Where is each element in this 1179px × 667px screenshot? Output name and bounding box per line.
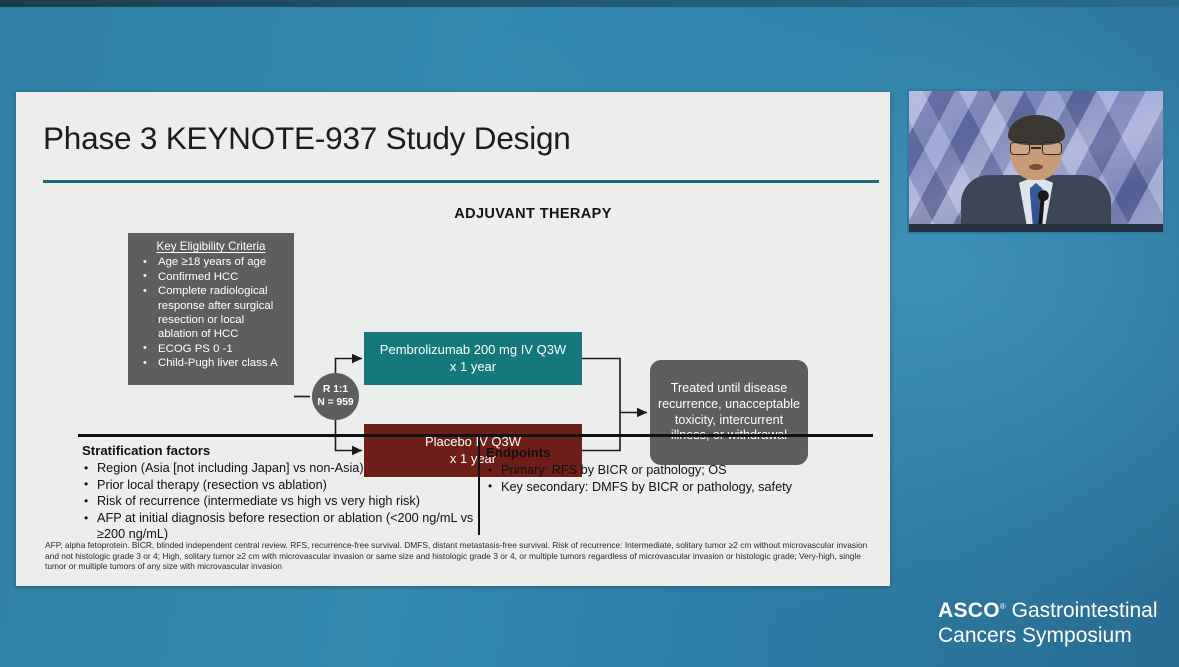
presentation-viewer: Phase 3 KEYNOTE-937 Study Design ADJUVAN… <box>0 0 1179 667</box>
speaker-podium <box>909 224 1163 232</box>
list-item: Age ≥18 years of age <box>136 255 286 269</box>
stratification-section: Stratification factors Region (Asia [not… <box>82 443 474 543</box>
speaker-hair <box>1008 115 1065 145</box>
slide: Phase 3 KEYNOTE-937 Study Design ADJUVAN… <box>16 92 890 586</box>
list-item: Prior local therapy (resection vs ablati… <box>82 477 474 493</box>
speaker-video-panel[interactable] <box>907 89 1165 234</box>
list-item: Key secondary: DMFS by BICR or pathology… <box>486 479 876 495</box>
pembrolizumab-arm-line2: x 1 year <box>380 359 566 376</box>
slide-title: Phase 3 KEYNOTE-937 Study Design <box>43 120 571 157</box>
list-item: Child-Pugh liver class A <box>136 356 286 370</box>
list-item: Region (Asia [not including Japan] vs no… <box>82 460 474 476</box>
asco-logo-line1-rest: Gastrointestinal <box>1006 599 1158 622</box>
list-item: Confirmed HCC <box>136 270 286 284</box>
eligibility-heading: Key Eligibility Criteria <box>136 240 286 253</box>
adjuvant-therapy-label: ADJUVANT THERAPY <box>373 206 693 222</box>
stratification-list: Region (Asia [not including Japan] vs no… <box>82 460 474 543</box>
endpoints-heading: Endpoints <box>486 445 876 460</box>
pembrolizumab-arm-box: Pembrolizumab 200 mg IV Q3W x 1 year <box>364 332 582 385</box>
eligibility-list: Age ≥18 years of age Confirmed HCC Compl… <box>136 255 286 371</box>
list-item: Primary: RFS by BICR or pathology; OS <box>486 462 876 478</box>
pembrolizumab-arm-line1: Pembrolizumab 200 mg IV Q3W <box>380 342 566 359</box>
list-item: AFP at initial diagnosis before resectio… <box>82 510 474 542</box>
list-item: Complete radiological response after sur… <box>136 284 286 341</box>
slide-footnote: AFP, alpha fetoprotein. BICR, blinded in… <box>45 540 875 572</box>
list-item: ECOG PS 0 -1 <box>136 342 286 356</box>
panel-divider-vertical <box>478 437 480 535</box>
speaker-mouth <box>1029 164 1043 170</box>
endpoints-section: Endpoints Primary: RFS by BICR or pathol… <box>486 445 876 495</box>
asco-wordmark: ASCO <box>938 599 1000 622</box>
panel-divider-horizontal <box>78 434 873 437</box>
eligibility-criteria-box: Key Eligibility Criteria Age ≥18 years o… <box>128 233 294 385</box>
title-underline <box>43 180 879 183</box>
endpoints-list: Primary: RFS by BICR or pathology; OS Ke… <box>486 462 876 495</box>
list-item: Risk of recurrence (intermediate vs high… <box>82 493 474 509</box>
asco-logo-line2: Cancers Symposium <box>938 623 1158 648</box>
randomization-node: R 1:1 N = 959 <box>312 373 359 420</box>
randomization-n: N = 959 <box>317 397 353 409</box>
stratification-heading: Stratification factors <box>82 443 474 458</box>
asco-logo: ASCO® Gastrointestinal Cancers Symposium <box>938 594 1158 648</box>
asco-logo-line1: ASCO® Gastrointestinal <box>938 594 1158 623</box>
speaker-glasses <box>1010 142 1062 155</box>
randomization-ratio: R 1:1 <box>323 384 348 396</box>
